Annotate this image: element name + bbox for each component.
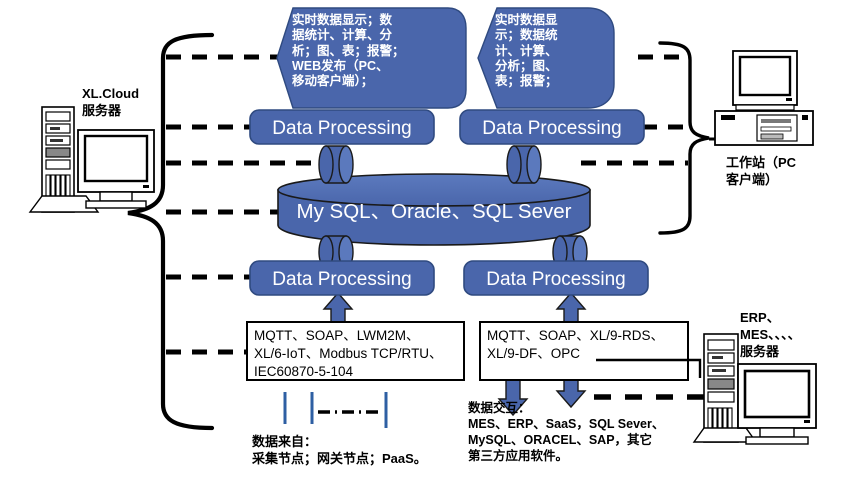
process-box-top-right-label[interactable]: Data Processing: [460, 117, 644, 140]
callout-bubble-left-text: 实时数据显示；数 据统计、计算、分 析；图、表；报警； WEB发布（PC、 移动…: [292, 13, 462, 89]
erp-server-label: ERP、 MES、、、、 服务器: [740, 310, 801, 361]
data-source-tick-lines: [285, 392, 386, 428]
protocol-box-right-text: MQTT、SOAP、XL/9-RDS、 XL/9-DF、OPC: [487, 327, 687, 363]
callout-bubble-right-text: 实时数据显 示；数据统 计、计算、 分析；图、 表；报警；: [495, 13, 605, 89]
note-data-source-text: 数据来自： 采集节点；网关节点；PaaS。: [252, 434, 427, 468]
note-data-exchange-text: 数据交互： MES、ERP、SaaS，SQL Sever、 MySQL、ORAC…: [468, 400, 664, 464]
cloud-server-label: XL.Cloud 服务器: [82, 86, 139, 120]
cloud-server-icon: [30, 107, 154, 212]
database-label[interactable]: My SQL、Oracle、SQL Sever: [278, 199, 590, 224]
protocol-box-left-text: MQTT、SOAP、LWM2M、 XL/6-IoT、Modbus TCP/RTU…: [254, 327, 464, 381]
left-cloud-brace: [128, 35, 212, 428]
process-box-bottom-left-label[interactable]: Data Processing: [250, 268, 434, 291]
workstation-label: 工作站（PC 客户端）: [726, 155, 796, 189]
right-workstation-brace: [660, 43, 709, 233]
workstation-icon: [715, 51, 813, 145]
process-box-top-left-label[interactable]: Data Processing: [250, 117, 434, 140]
process-box-bottom-right-label[interactable]: Data Processing: [464, 268, 648, 291]
diagram-canvas: 实时数据显示；数 据统计、计算、分 析；图、表；报警； WEB发布（PC、 移动…: [0, 0, 865, 479]
